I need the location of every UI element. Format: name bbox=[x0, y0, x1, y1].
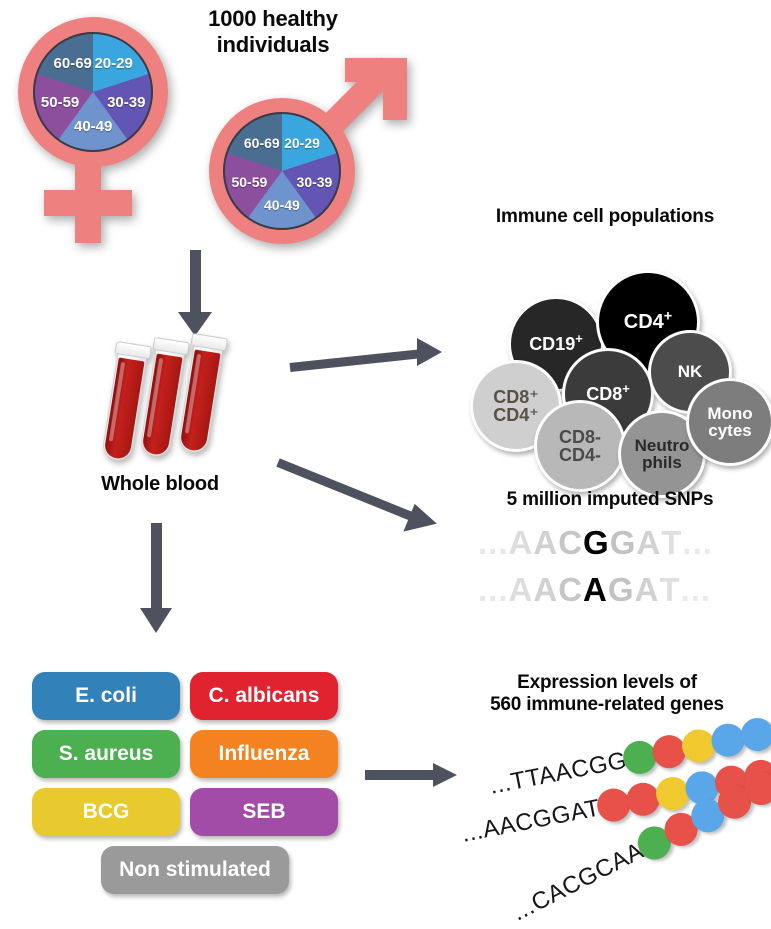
section-title-expression: Expression levels of560 immune-related g… bbox=[452, 672, 762, 716]
stimulus-pill-e-coli[interactable]: E. coli bbox=[32, 672, 180, 720]
whole-blood-tubes bbox=[110, 335, 250, 470]
age-distribution-pie-female: 20-2930-3940-4950-5960-69 bbox=[33, 32, 153, 152]
age-group-label-30-39: 30-39 bbox=[107, 94, 145, 111]
snp-sequence-row: ...AACAGAT... bbox=[478, 571, 711, 609]
page-title-cohort: 1000 healthyindividuals bbox=[178, 6, 368, 57]
age-group-label-30-39: 30-39 bbox=[297, 174, 333, 190]
age-group-label-60-69: 60-69 bbox=[54, 55, 92, 72]
strand-sequence-text: ...AACGGAT bbox=[459, 794, 602, 848]
male-symbol-arrowhead-bar-v bbox=[383, 58, 407, 120]
male-gender-symbol: 20-2930-3940-4950-5960-69 bbox=[195, 55, 420, 245]
age-group-label-20-29: 20-29 bbox=[284, 135, 320, 151]
stimulus-pill-s-aureus[interactable]: S. aureus bbox=[32, 730, 180, 778]
section-title-immune-cells: Immune cell populations bbox=[445, 206, 765, 228]
age-group-label-40-49: 40-49 bbox=[74, 118, 112, 135]
nucleotide-bead bbox=[738, 715, 771, 754]
snp-sequence-row: ...AACGGAT... bbox=[478, 524, 713, 562]
age-group-label-50-59: 50-59 bbox=[231, 174, 267, 190]
figure-canvas: 1000 healthyindividuals 20-2930-3940-495… bbox=[0, 0, 771, 922]
female-gender-symbol: 20-2930-3940-4950-5960-69 bbox=[8, 10, 178, 255]
age-group-label-20-29: 20-29 bbox=[94, 55, 132, 72]
immune-cell-monocytes: Monocytes bbox=[686, 378, 771, 466]
stimuli-panel: E. coliC. albicansS. aureusInfluenzaBCGS… bbox=[32, 672, 332, 892]
age-group-label-50-59: 50-59 bbox=[41, 94, 79, 111]
age-distribution-pie-male: 20-2930-3940-4950-5960-69 bbox=[223, 112, 341, 230]
female-symbol-crossbar bbox=[44, 190, 132, 216]
gene-expression-strands: ...TTAACGG...AACGGAT...CACGCAA bbox=[462, 730, 771, 920]
stimulus-pill-non-stimulated[interactable]: Non stimulated bbox=[101, 846, 289, 894]
section-title-snps: 5 million imputed SNPs bbox=[460, 489, 760, 511]
stimulus-pill-bcg[interactable]: BCG bbox=[32, 788, 180, 836]
stimulus-pill-influenza[interactable]: Influenza bbox=[190, 730, 338, 778]
immune-cell-cd8cd4: CD8-CD4- bbox=[534, 400, 626, 492]
stimulus-pill-c-albicans[interactable]: C. albicans bbox=[190, 672, 338, 720]
strand-sequence-text: ...CACGCAA bbox=[508, 837, 649, 927]
age-group-label-60-69: 60-69 bbox=[244, 135, 280, 151]
label-whole-blood: Whole blood bbox=[60, 473, 260, 496]
stimulus-pill-seb[interactable]: SEB bbox=[190, 788, 338, 836]
snp-sequence-block: ...AACGGAT......AACAGAT... bbox=[478, 524, 758, 614]
immune-cell-population-cluster: CD19+CD4+CD8⁺CD4⁺CD8+NKCD8-CD4-Neutrophi… bbox=[470, 248, 770, 418]
age-group-label-40-49: 40-49 bbox=[264, 197, 300, 213]
